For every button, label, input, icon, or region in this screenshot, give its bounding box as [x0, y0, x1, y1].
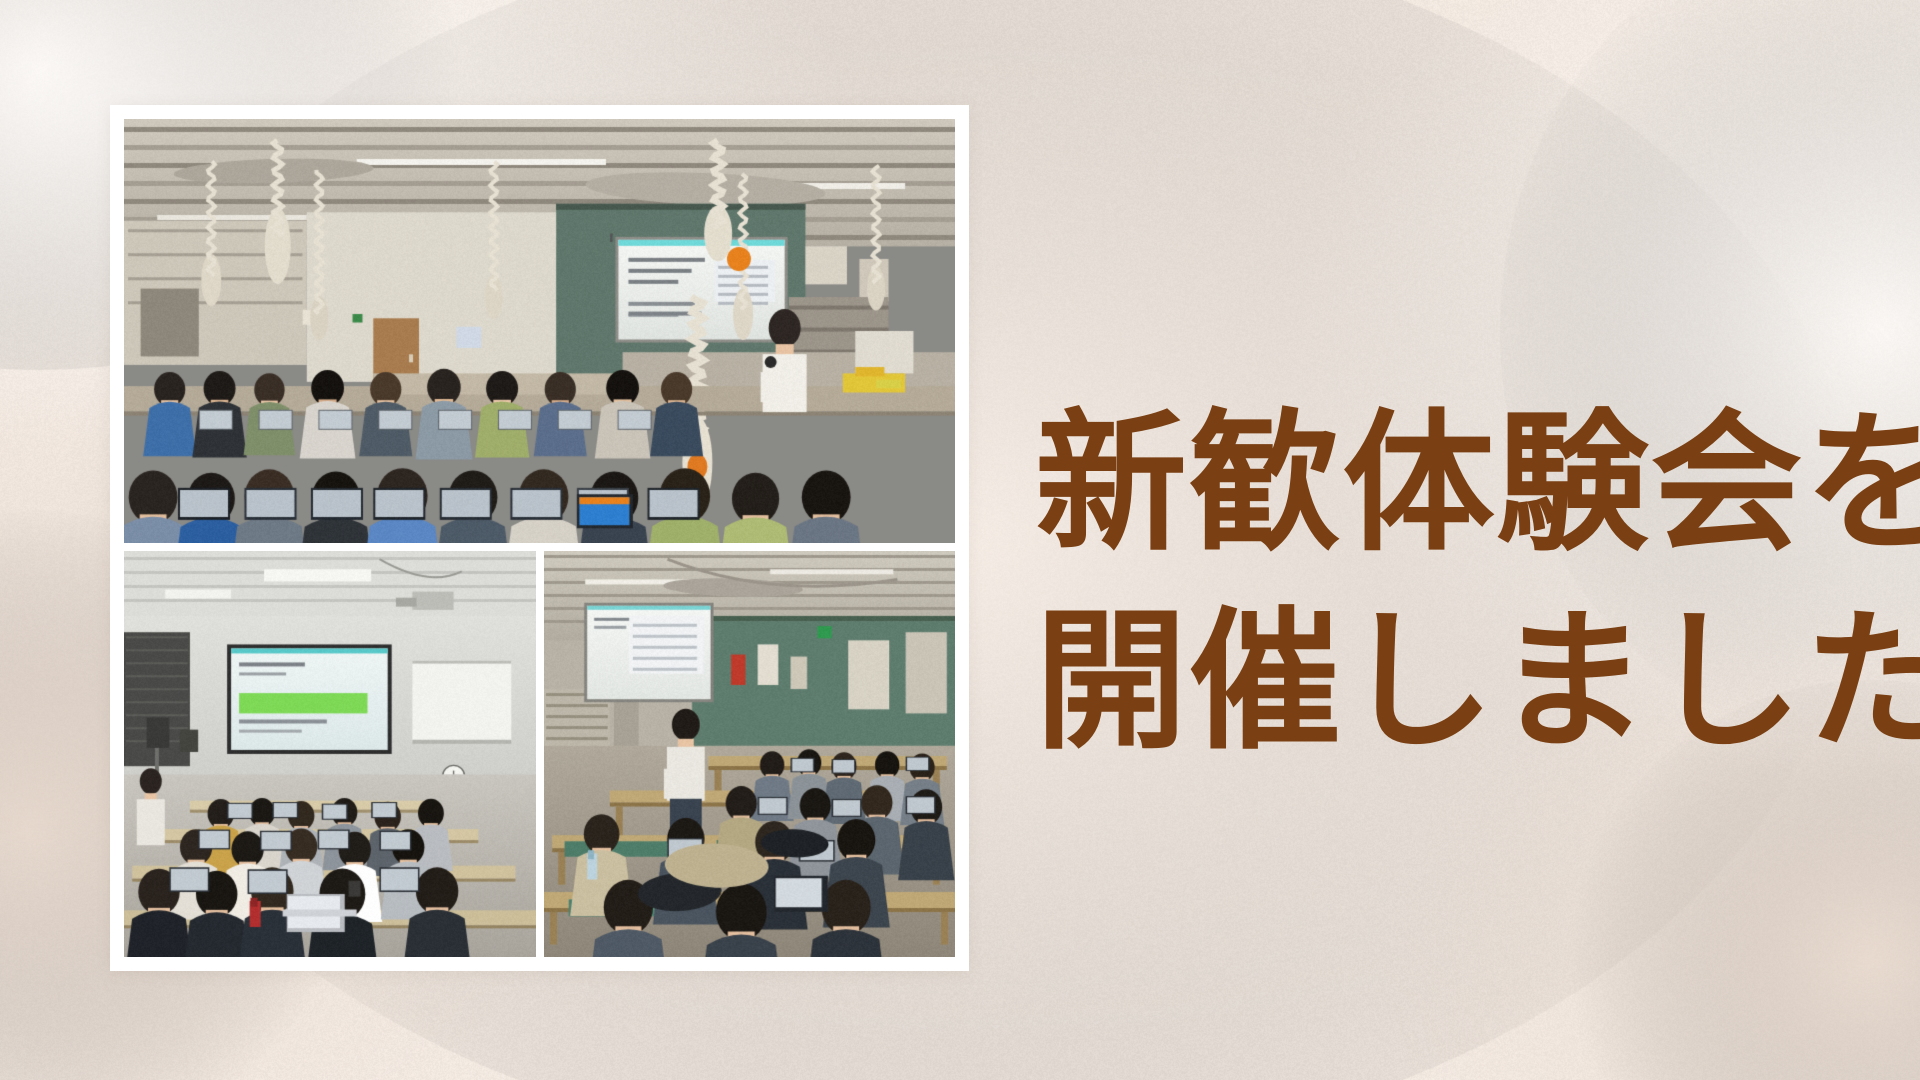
page-title-line-2: 開催しました: [1035, 583, 1825, 781]
photo-collage-grid: [124, 119, 955, 957]
photo-bottom-right-workshop: [544, 551, 956, 957]
photo-top-lecture-hall: [124, 119, 955, 543]
page-title-line-1: 新歓体験会を: [1035, 385, 1825, 583]
photo-collage-frame: [110, 105, 969, 971]
banner-stage: 新歓体験会を 開催しました: [0, 0, 1920, 1080]
page-title: 新歓体験会を 開催しました: [1035, 385, 1825, 780]
photo-bottom-left-classroom: [124, 551, 536, 957]
